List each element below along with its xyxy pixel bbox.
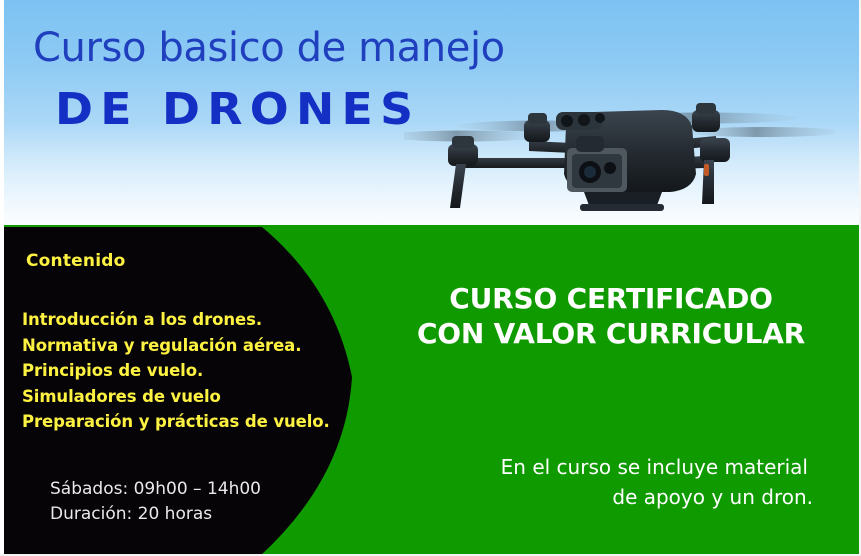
schedule-days: Sábados: 09h00 – 14h00 — [50, 477, 261, 502]
frame-edge-left — [0, 0, 4, 556]
list-item: Normativa y regulación aérea. — [22, 333, 330, 359]
drone-image — [404, 96, 834, 224]
list-item: Simuladores de vuelo — [22, 384, 330, 410]
contenido-list: Introducción a los drones. Normativa y r… — [22, 307, 330, 435]
page-subtitle: DE DRONES — [55, 88, 420, 132]
material-note-line-1: En el curso se incluye material — [380, 452, 813, 482]
material-note-line-2: de apoyo y un dron. — [380, 482, 813, 512]
contenido-heading: Contenido — [26, 251, 126, 271]
schedule-duration: Duración: 20 horas — [50, 502, 261, 527]
drone-course-poster: Curso basico de manejo DE DRONES — [0, 0, 861, 556]
certification-line-2: CON VALOR CURRICULAR — [361, 316, 861, 351]
list-item: Preparación y prácticas de vuelo. — [22, 409, 330, 435]
schedule-block: Sábados: 09h00 – 14h00 Duración: 20 hora… — [50, 477, 261, 527]
certification-heading: CURSO CERTIFICADO CON VALOR CURRICULAR — [361, 281, 861, 351]
list-item: Introducción a los drones. — [22, 307, 330, 333]
drone-icon — [404, 96, 834, 224]
page-title: Curso basico de manejo — [33, 28, 505, 68]
list-item: Principios de vuelo. — [22, 358, 330, 384]
material-note: En el curso se incluye material de apoyo… — [380, 452, 840, 512]
certification-line-1: CURSO CERTIFICADO — [361, 281, 861, 316]
